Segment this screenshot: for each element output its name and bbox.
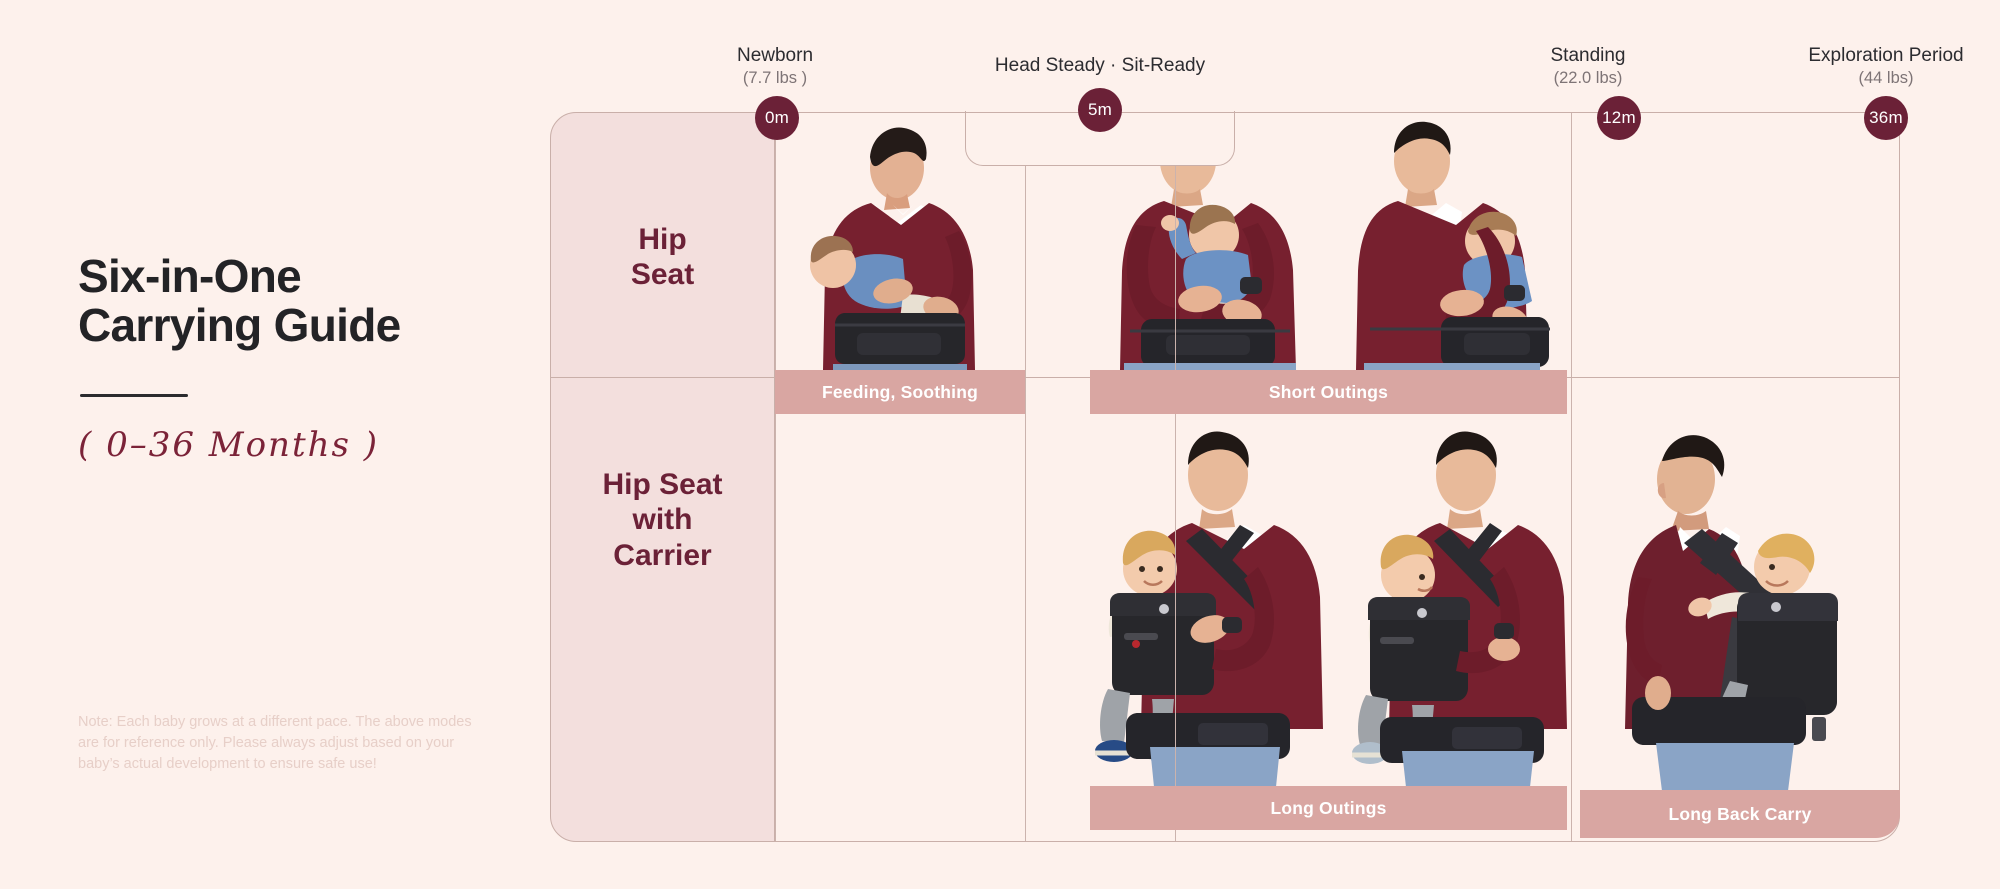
row-label-hip-seat: Hip Seat [550,222,775,293]
timeline-header: Newborn (7.7 lbs ) Head Steady · Sit-Rea… [0,0,2000,120]
title-divider [80,394,188,397]
milestone-weight: (44 lbs) [1808,68,1963,89]
photo-father-toddler-front-carrier-facing-in [1340,417,1567,787]
photo-father-toddler-back-carry [1580,417,1900,791]
milestone-weight: (22.0 lbs) [1550,68,1625,89]
title-line-2: Carrying Guide [78,301,508,350]
photo-father-holding-toddler-hip-seat-side [1340,113,1567,370]
title-line-1: Six-in-One [78,252,508,301]
column-divider-label [775,112,776,842]
caption-long-outings: Long Outings [1090,786,1567,830]
row-label-hip-seat-carrier: Hip Seat with Carrier [550,467,775,573]
milestone-name: Newborn [737,44,813,68]
row-label-line-1: Hip [550,222,775,257]
timeline-marker-5m[interactable]: 5m [1078,88,1122,132]
row-label-line-2: Seat [550,257,775,292]
milestone-weight: (7.7 lbs ) [737,68,813,89]
timeline-marker-0m[interactable]: 0m [755,96,799,140]
cell-carrier-back [1580,417,1900,791]
carry-mode-grid: Hip Seat Hip Seat with Carrier [550,112,1900,842]
row-label-line-3: Carrier [550,538,775,573]
disclaimer-note: Note: Each baby grows at a different pac… [78,712,488,775]
milestone-name: Head Steady · Sit-Ready [995,54,1205,78]
caption-long-back-carry: Long Back Carry [1580,790,1900,838]
cell-carrier-long-b [1340,417,1567,787]
photo-father-toddler-front-carrier-facing-out [1090,417,1330,787]
milestone-name: Standing [1550,44,1625,68]
column-divider-12m [1571,112,1572,842]
row-label-line-1: Hip Seat [550,467,775,502]
column-divider-5m-mid [1175,112,1176,842]
infographic-page: Six-in-One Carrying Guide ( 0–36 Months … [0,0,2000,889]
milestone-label-0m: Newborn (7.7 lbs ) [737,44,813,89]
cell-hipseat-short-b [1340,113,1567,370]
row-label-line-2: with [550,502,775,537]
timeline-marker-12m[interactable]: 12m [1597,96,1641,140]
caption-short-outings: Short Outings [1090,370,1567,414]
timeline-marker-36m[interactable]: 36m [1864,96,1908,140]
milestone-name: Exploration Period [1808,44,1963,68]
caption-feeding-soothing: Feeding, Soothing [775,370,1025,414]
column-divider-0m-5m [1025,112,1026,842]
milestone-label-12m: Standing (22.0 lbs) [1550,44,1625,89]
left-panel: Six-in-One Carrying Guide ( 0–36 Months … [78,252,508,465]
milestone-label-36m: Exploration Period (44 lbs) [1808,44,1963,89]
page-subtitle: ( 0–36 Months ) [78,425,508,465]
cell-carrier-long-a [1090,417,1330,787]
milestone-label-5m: Head Steady · Sit-Ready [995,54,1205,78]
page-title: Six-in-One Carrying Guide [78,252,508,350]
